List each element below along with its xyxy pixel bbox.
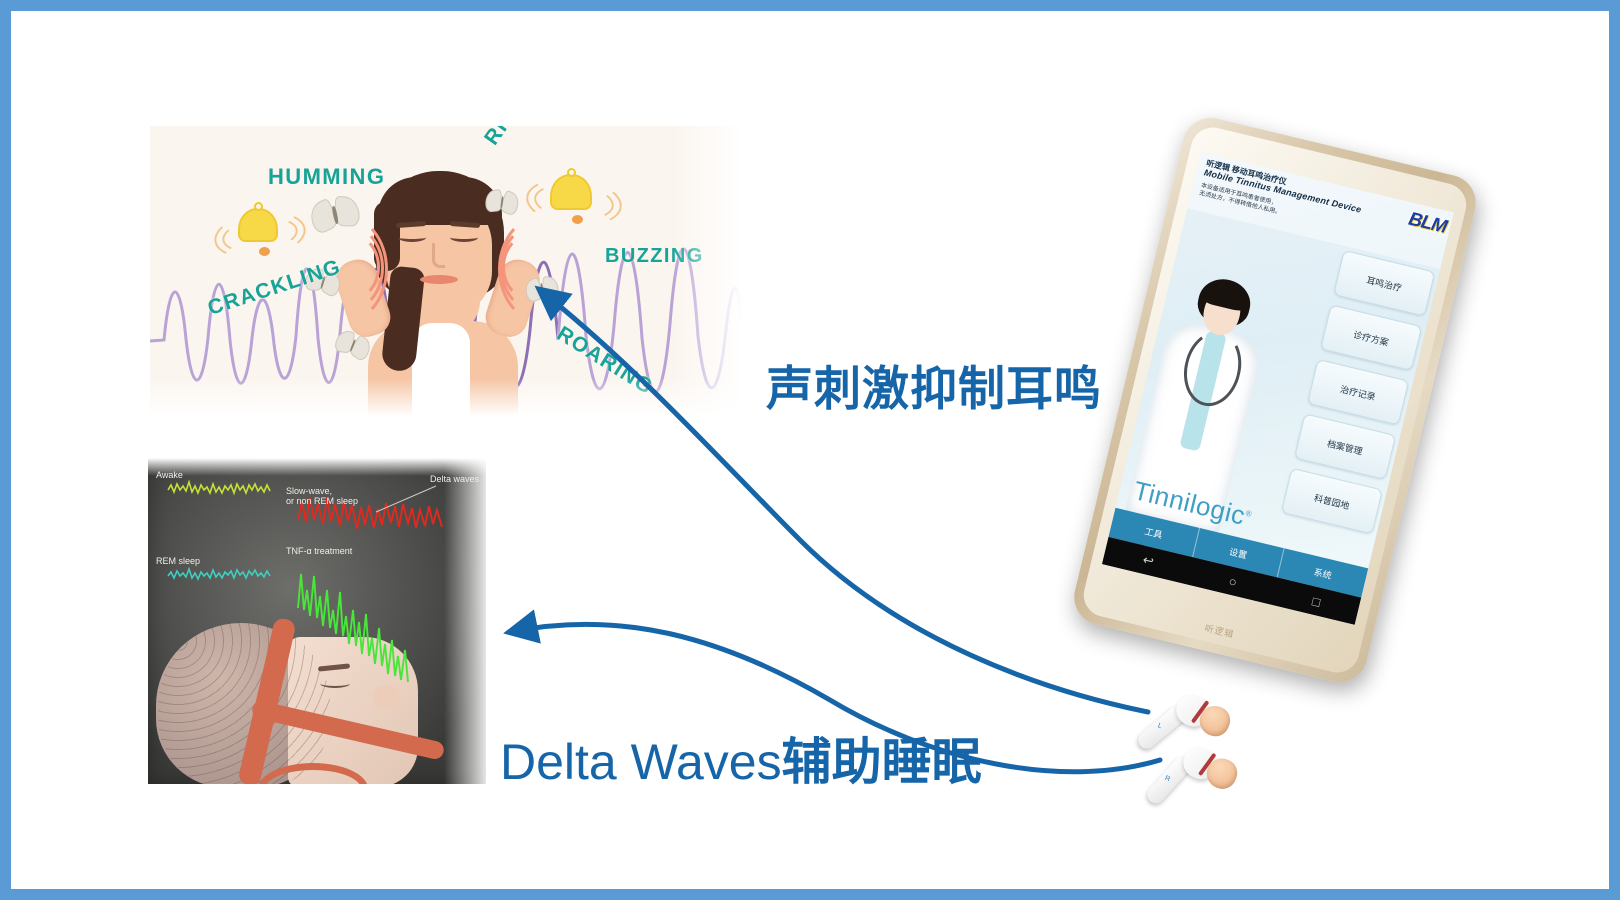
caption-delta-cjk: 辅助睡眠 [782,734,982,790]
menu-button-file-management[interactable]: 档案管理 [1294,413,1396,480]
menu-button-treatment-plan[interactable]: 诊疗方案 [1320,304,1422,371]
sound-word-humming: HUMMING [268,164,385,190]
eeg-label-awake: Awake [156,470,183,481]
eeg-label-tnf-treatment: TNF-α treatment [286,546,352,557]
bell-icon-right [550,174,592,220]
bell-icon-left [238,208,278,252]
registered-mark: ® [1245,509,1253,519]
eye-right [450,233,478,242]
tablet-device: 听逻辑 移动耳鸣治疗仪 Mobile Tinnitus Management D… [1125,140,1485,720]
tablet-screen[interactable]: 听逻辑 移动耳鸣治疗仪 Mobile Tinnitus Management D… [1102,152,1454,625]
earbuds-pair: L R [1128,690,1268,820]
eye-left [398,233,426,242]
eeg-sleep-photo: Awake REM sleep Slow-wave, or non REM sl… [148,458,486,784]
slide-canvas: HUMMING RINGING BUZZING CRACKLING ROARIN… [0,0,1620,900]
menu-button-education[interactable]: 科普园地 [1281,468,1383,535]
nose [432,243,445,268]
eeg-label-rem-sleep: REM sleep [156,556,200,567]
eeg-label-non-rem: or non REM sleep [286,496,358,507]
menu-button-treatment-record[interactable]: 治疗记录 [1307,359,1409,426]
moth-icon [524,276,561,303]
eeg-label-delta-waves: Delta waves [430,474,479,485]
caption-delta-waves: Delta Waves辅助睡眠 [500,722,982,794]
moth-icon [484,189,521,216]
recents-icon[interactable]: □ [1311,593,1322,609]
caption-delta-latin: Delta Waves [500,734,782,790]
mouth [420,275,458,284]
tablet-body-rotated: 听逻辑 移动耳鸣治疗仪 Mobile Tinnitus Management D… [1068,112,1481,688]
caption-sound-stimulation: 声刺激抑制耳鸣 [766,350,1102,419]
tinnitus-illustration: HUMMING RINGING BUZZING CRACKLING ROARIN… [150,126,742,416]
blm-logo: BLM [1406,209,1448,239]
back-icon[interactable]: ↩ [1141,552,1155,570]
tablet-chassis: 听逻辑 移动耳鸣治疗仪 Mobile Tinnitus Management D… [1068,112,1481,688]
sound-arc-right-3 [498,213,592,325]
home-icon[interactable]: ○ [1227,573,1238,589]
